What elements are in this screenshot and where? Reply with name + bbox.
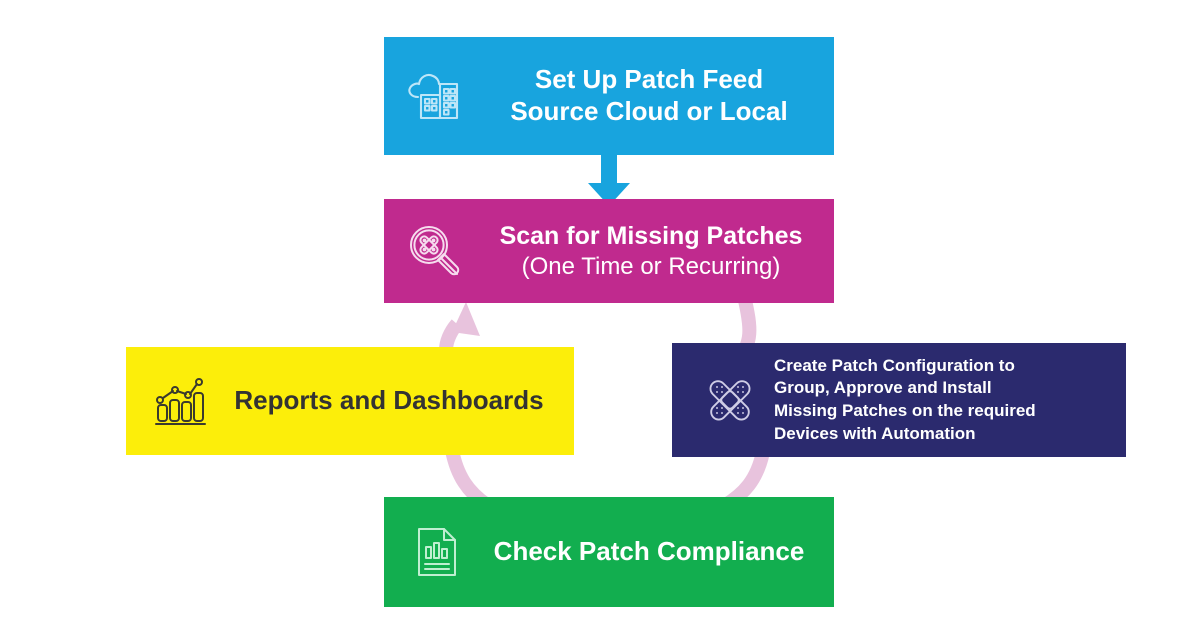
diagram-canvas: Set Up Patch Feed Source Cloud or Local [0,0,1200,628]
node-reports-and-dashboards-label: Reports and Dashboards [218,385,574,417]
magnifier-bandage-icon [396,221,474,281]
document-report-icon [398,523,476,581]
node-scan-missing-patches-label: Scan for Missing Patches (One Time or Re… [474,221,834,281]
crossed-bandages-icon [686,367,774,433]
node-create-patch-configuration[interactable]: Create Patch Configuration to Group, App… [672,343,1126,457]
node-create-patch-configuration-label: Create Patch Configuration to Group, App… [774,355,1126,445]
connector-feed-to-scan-shaft [601,155,617,185]
node-config-line3: Missing Patches on the required [774,400,1112,423]
bar-chart-trend-icon [142,372,218,430]
node-setup-patch-feed[interactable]: Set Up Patch Feed Source Cloud or Local [384,37,834,155]
node-setup-patch-feed-line1: Set Up Patch Feed [535,64,763,94]
node-check-patch-compliance-label: Check Patch Compliance [476,536,834,568]
node-reports-and-dashboards[interactable]: Reports and Dashboards [126,347,574,455]
node-config-line1: Create Patch Configuration to [774,355,1112,378]
cloud-buildings-icon [396,65,474,127]
node-config-line4: Devices with Automation [774,423,1112,446]
node-check-patch-compliance[interactable]: Check Patch Compliance [384,497,834,607]
node-scan-line1: Scan for Missing Patches [474,221,828,252]
arrowhead-reports-to-scan [452,302,480,336]
node-scan-line2: (One Time or Recurring) [474,252,828,281]
node-config-line2: Group, Approve and Install [774,377,1112,400]
node-setup-patch-feed-line2: Source Cloud or Local [510,96,787,126]
node-setup-patch-feed-label: Set Up Patch Feed Source Cloud or Local [474,64,834,127]
node-scan-missing-patches[interactable]: Scan for Missing Patches (One Time or Re… [384,199,834,303]
